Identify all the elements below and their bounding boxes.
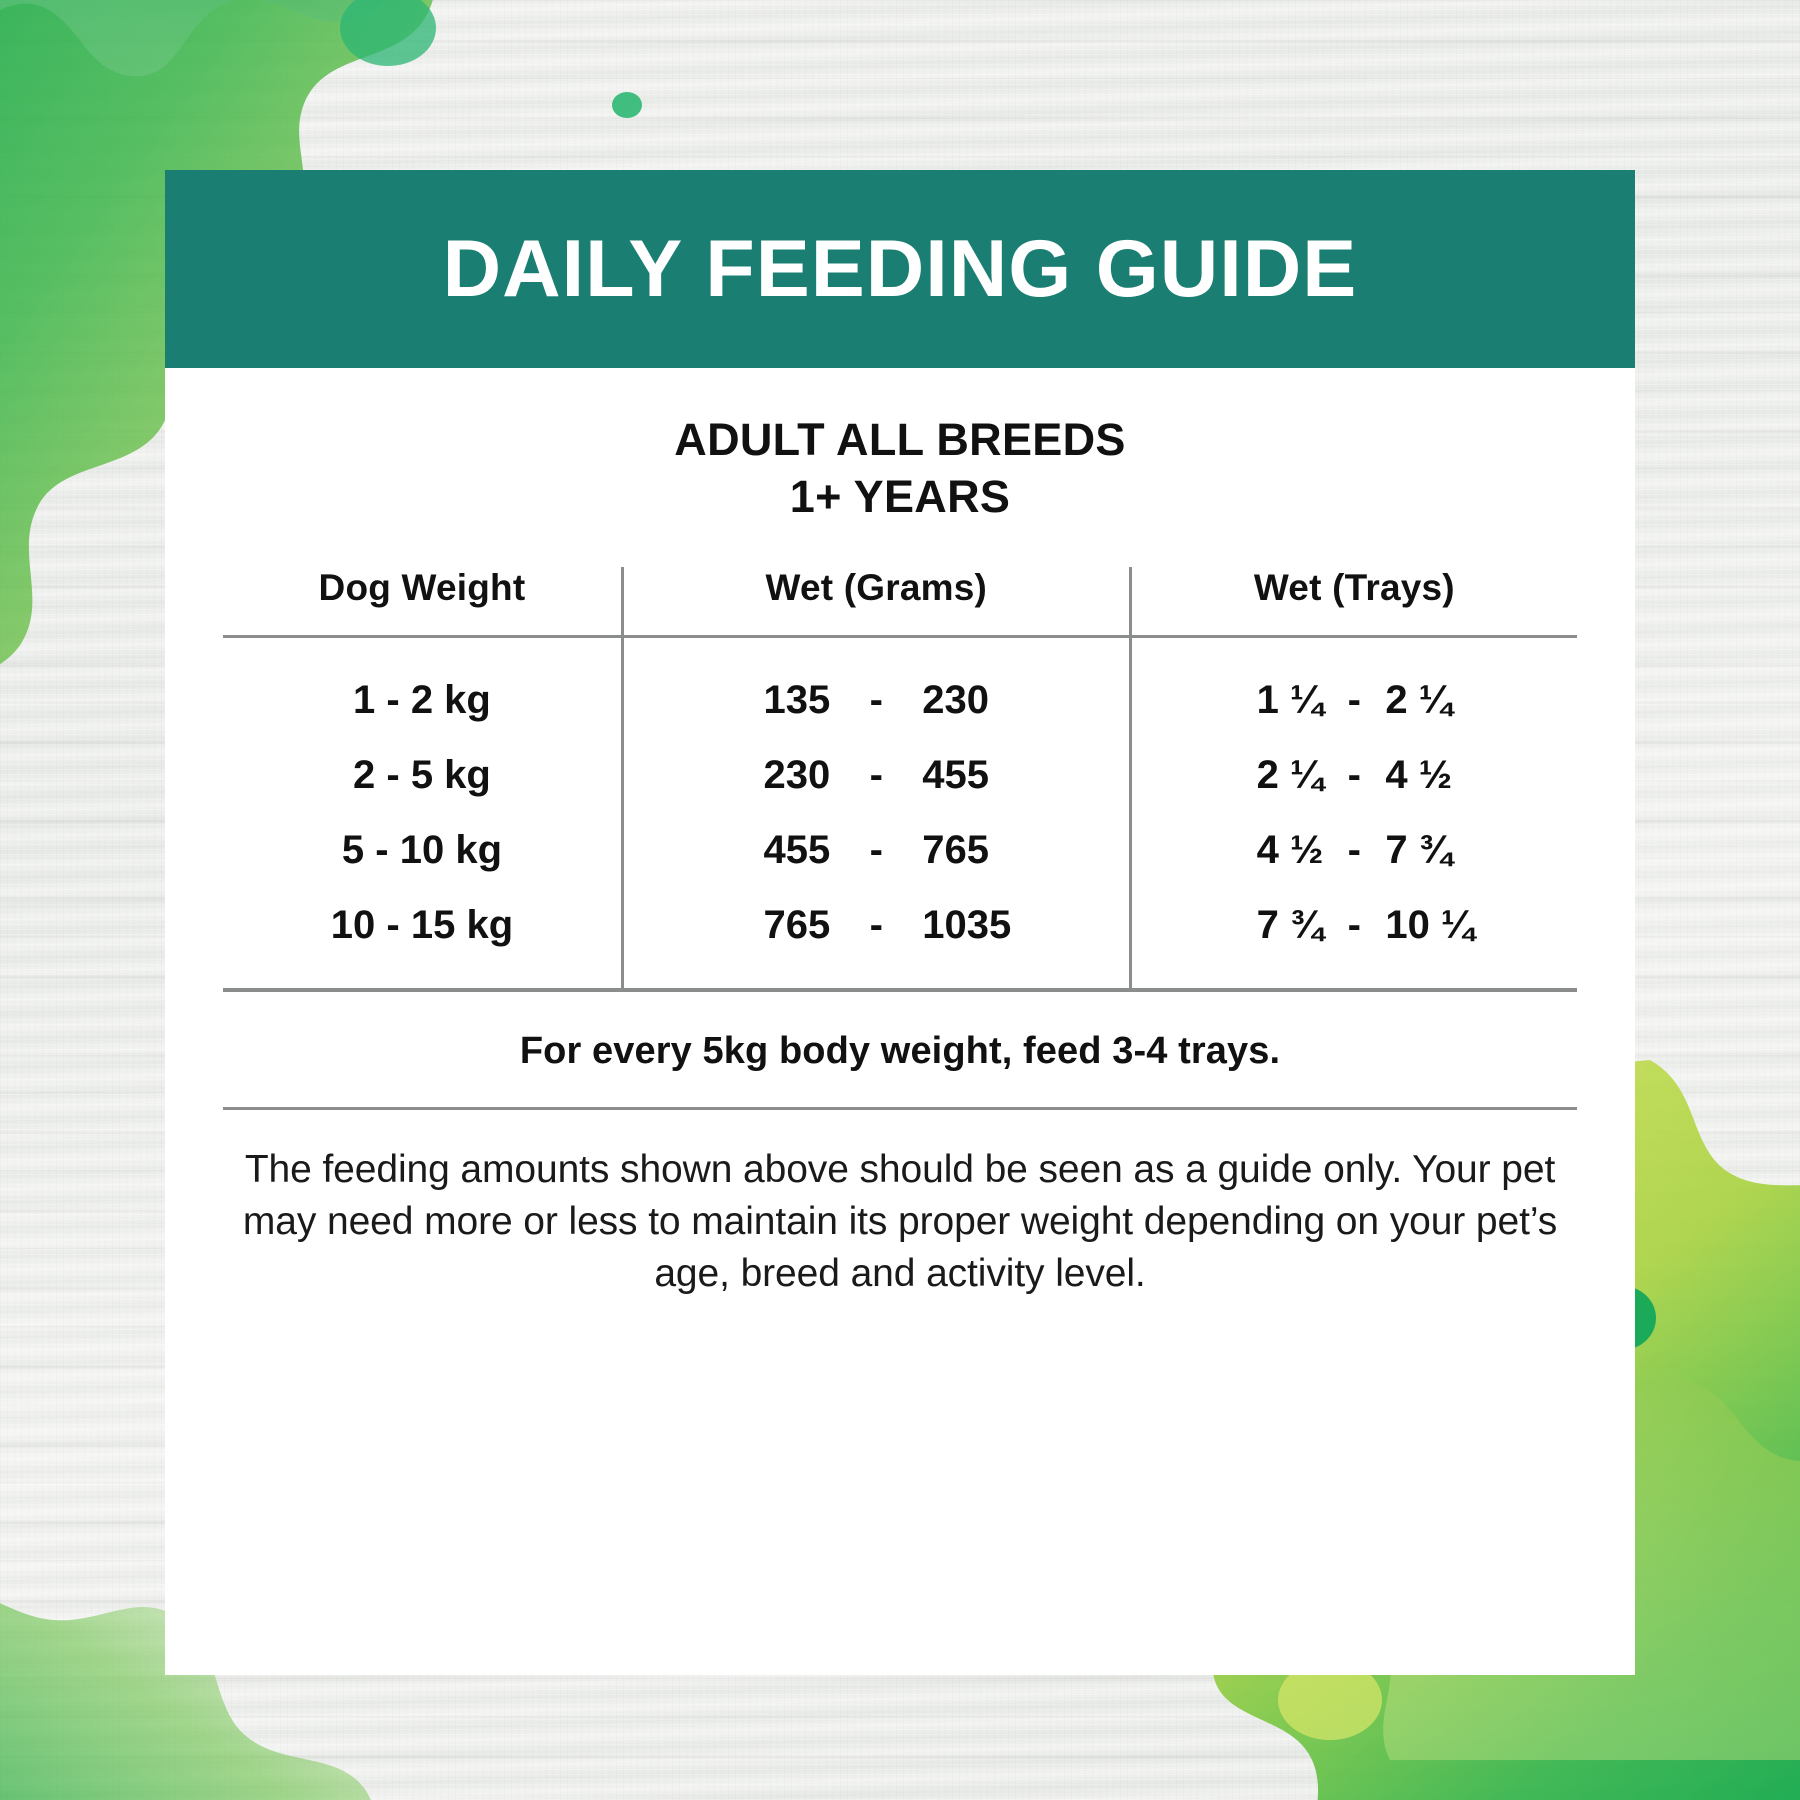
table-header-row: Dog Weight Wet (Grams) Wet (Trays): [223, 567, 1577, 637]
range-dash: -: [1323, 678, 1385, 723]
cell-wet-grams: 135 - 230: [622, 637, 1130, 739]
feeding-guide-page: DAILY FEEDING GUIDE ADULT ALL BREEDS 1+ …: [0, 0, 1800, 1800]
cell-dog-weight: 1 - 2 kg: [223, 637, 622, 739]
table-row: 2 - 5 kg 230 - 455 2 ¼ -: [223, 738, 1577, 813]
grams-high: 765: [922, 828, 1092, 873]
subtitle-block: ADULT ALL BREEDS 1+ YEARS: [223, 412, 1577, 525]
grams-low: 230: [660, 753, 830, 798]
grams-low: 135: [660, 678, 830, 723]
page-title: DAILY FEEDING GUIDE: [443, 229, 1358, 310]
trays-low: 4 ½: [1183, 828, 1323, 873]
table-row: 5 - 10 kg 455 - 765 4 ½ -: [223, 813, 1577, 888]
trays-high: 10 ¼: [1385, 903, 1525, 948]
feeding-note: For every 5kg body weight, feed 3-4 tray…: [223, 992, 1577, 1107]
watercolor-dot-top: [612, 92, 642, 118]
cell-wet-grams: 230 - 455: [622, 738, 1130, 813]
cell-dog-weight: 10 - 15 kg: [223, 888, 622, 988]
feeding-guide-card: DAILY FEEDING GUIDE ADULT ALL BREEDS 1+ …: [165, 170, 1635, 1675]
table-row: 1 - 2 kg 135 - 230 1 ¼ -: [223, 637, 1577, 739]
trays-high: 4 ½: [1385, 753, 1525, 798]
trays-high: 2 ¼: [1385, 678, 1525, 723]
cell-dog-weight: 5 - 10 kg: [223, 813, 622, 888]
table-row: 10 - 15 kg 765 - 1035 7 ¾ -: [223, 888, 1577, 988]
column-header-dog-weight: Dog Weight: [223, 567, 622, 637]
range-dash: -: [1323, 753, 1385, 798]
range-dash: -: [830, 903, 922, 948]
table-header: Dog Weight Wet (Grams) Wet (Trays): [223, 567, 1577, 637]
trays-low: 2 ¼: [1183, 753, 1323, 798]
range-dash: -: [830, 753, 922, 798]
grams-low: 765: [660, 903, 830, 948]
cell-wet-trays: 4 ½ - 7 ¾: [1130, 813, 1577, 888]
trays-low: 1 ¼: [1183, 678, 1323, 723]
range-dash: -: [830, 828, 922, 873]
grams-high: 1035: [922, 903, 1092, 948]
cell-dog-weight: 2 - 5 kg: [223, 738, 622, 813]
range-dash: -: [1323, 903, 1385, 948]
feeding-table: Dog Weight Wet (Grams) Wet (Trays) 1 - 2…: [223, 567, 1577, 988]
cell-wet-trays: 1 ¼ - 2 ¼: [1130, 637, 1577, 739]
cell-wet-grams: 455 - 765: [622, 813, 1130, 888]
trays-low: 7 ¾: [1183, 903, 1323, 948]
cell-wet-trays: 7 ¾ - 10 ¼: [1130, 888, 1577, 988]
table-body: 1 - 2 kg 135 - 230 1 ¼ -: [223, 637, 1577, 989]
card-body: ADULT ALL BREEDS 1+ YEARS Dog Weight Wet…: [165, 412, 1635, 1300]
grams-low: 455: [660, 828, 830, 873]
range-dash: -: [830, 678, 922, 723]
range-dash: -: [1323, 828, 1385, 873]
grams-high: 230: [922, 678, 1092, 723]
disclaimer-text: The feeding amounts shown above should b…: [223, 1110, 1577, 1300]
column-header-wet-trays: Wet (Trays): [1130, 567, 1577, 637]
trays-high: 7 ¾: [1385, 828, 1525, 873]
grams-high: 455: [922, 753, 1092, 798]
column-header-wet-grams: Wet (Grams): [622, 567, 1130, 637]
subtitle-line-breeds: ADULT ALL BREEDS: [223, 412, 1577, 469]
subtitle-line-age: 1+ YEARS: [223, 469, 1577, 526]
cell-wet-grams: 765 - 1035: [622, 888, 1130, 988]
cell-wet-trays: 2 ¼ - 4 ½: [1130, 738, 1577, 813]
header-bar: DAILY FEEDING GUIDE: [165, 170, 1635, 368]
